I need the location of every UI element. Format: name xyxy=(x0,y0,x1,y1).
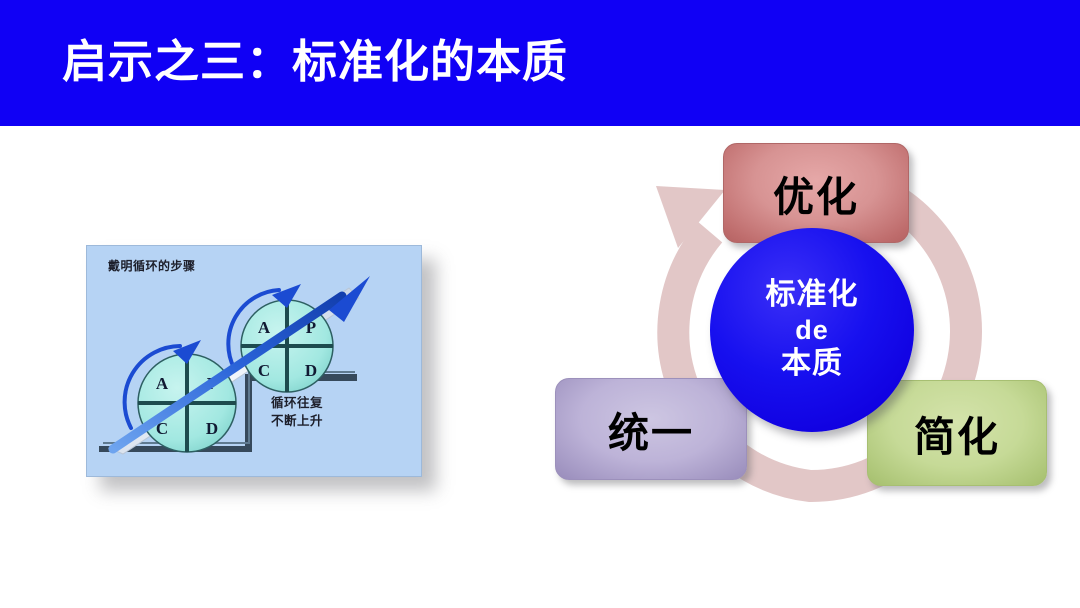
deming-cycle-illustration: A P C D A P C D xyxy=(87,246,421,476)
figure-caption-bottom: 循环往复 不断上升 xyxy=(271,394,323,430)
title-banner: 启示之三：标准化的本质 xyxy=(0,0,1080,126)
wheel-lower-quadrant-d: D xyxy=(206,419,218,438)
cycle-node-optimize-label: 优化 xyxy=(773,163,859,223)
cycle-node-simplify-label: 简化 xyxy=(914,403,1000,463)
figure-caption-bottom-line2: 不断上升 xyxy=(271,412,323,430)
cycle-center-line1: 标准化 xyxy=(766,277,859,314)
wheel-lower-quadrant-a: A xyxy=(156,374,169,393)
rising-arrow xyxy=(113,276,370,449)
cycle-center-line3: 本质 xyxy=(781,346,843,383)
wheel-upper-quadrant-c: C xyxy=(258,361,270,380)
wheel-upper-quadrant-a: A xyxy=(258,318,271,337)
slide-title: 启示之三：标准化的本质 xyxy=(62,36,568,88)
deming-cycle-figure: A P C D A P C D 戴明循环 xyxy=(86,245,422,477)
standardization-cycle-diagram: 优化 统一 简化 标准化 de 本质 xyxy=(540,128,1070,538)
cycle-node-simplify[interactable]: 简化 xyxy=(867,380,1047,486)
figure-caption-top: 戴明循环的步骤 xyxy=(108,257,196,274)
cycle-center-circle[interactable]: 标准化 de 本质 xyxy=(710,228,914,432)
figure-caption-bottom-line1: 循环往复 xyxy=(271,394,323,412)
cycle-node-unify[interactable]: 统一 xyxy=(555,378,747,480)
wheel-upper-quadrant-d: D xyxy=(305,361,317,380)
cycle-node-unify-label: 统一 xyxy=(608,399,694,459)
cycle-center-line2: de xyxy=(795,314,829,347)
